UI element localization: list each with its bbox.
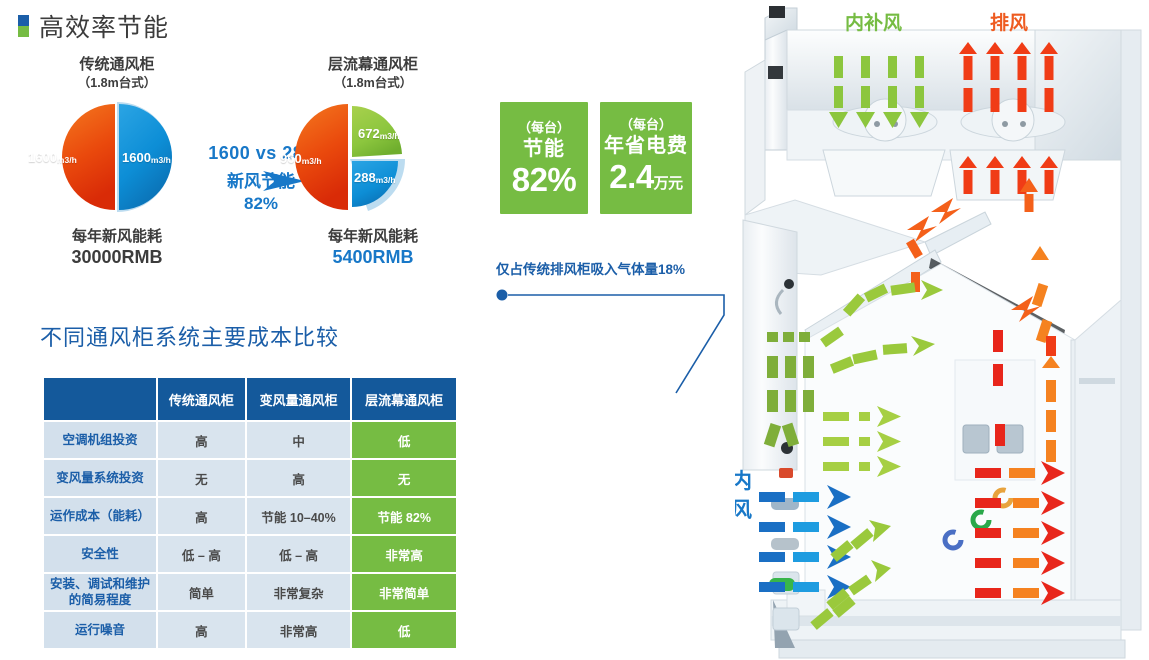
table-cell: 简单 [158, 574, 245, 610]
pie-comparison-section: 传统通风柜 （1.8m台式） [0, 55, 480, 305]
page-header: 高效率节能 [18, 8, 169, 44]
badge-top-label: （每台） [518, 119, 570, 136]
pie-title-right: 层流幕通风柜 [268, 55, 478, 74]
pie-slice-label: 1600m3/h [122, 150, 171, 165]
table-header-col2: 变风量通风柜 [247, 378, 351, 420]
table-row-head: 安装、调试和维护的简易程度 [44, 574, 156, 610]
orange-upper-right-dashes [1046, 336, 1056, 356]
badge-energy-saving: （每台） 节能 82% [500, 102, 588, 214]
table-cell: 低 – 高 [247, 536, 351, 572]
table-header-row: 传统通风柜 变风量通风柜 层流幕通风柜 [44, 378, 456, 420]
badge-mid-label: 年省电费 [604, 133, 688, 159]
label-internal-supply-air: 内补风 [845, 8, 902, 35]
table-row-head: 空调机组投资 [44, 422, 156, 458]
table-row: 变风量系统投资 无 高 无 [44, 460, 456, 496]
table-header-blank [44, 378, 156, 420]
pie-block-traditional: 传统通风柜 （1.8m台式） [12, 55, 222, 268]
table-cell: 高 [158, 422, 245, 458]
table-row-head: 安全性 [44, 536, 156, 572]
cost-comparison-table: 传统通风柜 变风量通风柜 层流幕通风柜 空调机组投资 高 中 低 变风量系统投资… [42, 376, 458, 650]
table-cell-highlight: 低 [352, 612, 456, 648]
badge-big-value: 82% [512, 162, 577, 197]
pie-subtitle-left: （1.8m台式） [12, 74, 222, 92]
table-cell: 高 [247, 460, 351, 496]
table-cell: 低 – 高 [158, 536, 245, 572]
pie-slice-label: 288m3/h [354, 170, 396, 185]
pie-slice-label: 960m3/h [280, 151, 322, 166]
table-cell-highlight: 非常高 [352, 536, 456, 572]
badge-mid-label: 节能 [523, 136, 565, 162]
badge-cost-saving: （每台） 年省电费 2.4万元 [600, 102, 692, 214]
pie-caption-value-left: 30000RMB [12, 247, 222, 268]
table-row-head: 变风量系统投资 [44, 460, 156, 496]
pie-slice-label: 672m3/h [358, 126, 400, 141]
table-cell: 中 [247, 422, 351, 458]
table-row: 运作成本（能耗） 高 节能 10–40% 节能 82% [44, 498, 456, 534]
callout-leader-line [496, 281, 741, 401]
table-cell-highlight: 低 [352, 422, 456, 458]
callout-18-percent: 仅占传统排风柜吸入气体量18% [496, 258, 741, 401]
pie-caption-text-left: 每年新风能耗 [12, 226, 222, 247]
table-cell: 无 [158, 460, 245, 496]
table-cell: 非常高 [247, 612, 351, 648]
table-row: 空调机组投资 高 中 低 [44, 422, 456, 458]
table-cell: 高 [158, 498, 245, 534]
table-row-head: 运行噪音 [44, 612, 156, 648]
pie-caption-text-right: 每年新风能耗 [268, 226, 478, 247]
badge-big-value: 2.4万元 [609, 159, 682, 201]
pie-caption-value-right: 5400RMB [268, 247, 478, 268]
table-cell-highlight: 节能 82% [352, 498, 456, 534]
table-row: 安全性 低 – 高 低 – 高 非常高 [44, 536, 456, 572]
green-horizontal-arrows [823, 406, 901, 477]
pie-title-left: 传统通风柜 [12, 55, 222, 74]
table-row: 运行噪音 高 非常高 低 [44, 612, 456, 648]
infographic-page: 高效率节能 传统通风柜 （1.8m台式） [0, 0, 1149, 660]
pie-chart-right: 960m3/h 672m3/h 288m3/h [268, 98, 478, 216]
pie-slice-label: 1600m3/h [28, 150, 77, 165]
fume-hood-airflow-diagram: 内补风 排风 室内 新风 [735, 0, 1149, 660]
bullet-dot-icon [497, 290, 508, 301]
label-indoor-air-line1: 室内 [735, 468, 752, 495]
pie-subtitle-right: （1.8m台式） [268, 74, 478, 92]
table-header-col1: 传统通风柜 [158, 378, 245, 420]
bullet-square-icon [18, 15, 29, 37]
table-row-head: 运作成本（能耗） [44, 498, 156, 534]
pie-block-laminar: 层流幕通风柜 （1.8m台式） [268, 55, 478, 268]
label-indoor-air-line2: 新风 [735, 497, 752, 524]
table-cell: 节能 10–40% [247, 498, 351, 534]
callout-text: 仅占传统排风柜吸入气体量18% [496, 258, 741, 278]
table-cell: 非常复杂 [247, 574, 351, 610]
pie-chart-left: 1600m3/h 1600m3/h [12, 98, 222, 216]
table-cell-highlight: 无 [352, 460, 456, 496]
table-row: 安装、调试和维护的简易程度 简单 非常复杂 非常简单 [44, 574, 456, 610]
label-exhaust-air: 排风 [990, 8, 1028, 35]
table-header-col3: 层流幕通风柜 [352, 378, 456, 420]
table-cell: 高 [158, 612, 245, 648]
pie-caption-right: 每年新风能耗 5400RMB [268, 226, 478, 268]
fume-hood-illustration [735, 0, 1149, 660]
section-title: 不同通风柜系统主要成本比较 [40, 320, 339, 352]
savings-badges: （每台） 节能 82% （每台） 年省电费 2.4万元 [500, 102, 692, 214]
badge-top-label: （每台） [620, 116, 672, 133]
page-title: 高效率节能 [39, 8, 169, 44]
table-cell-highlight: 非常简单 [352, 574, 456, 610]
pie-caption-left: 每年新风能耗 30000RMB [12, 226, 222, 268]
